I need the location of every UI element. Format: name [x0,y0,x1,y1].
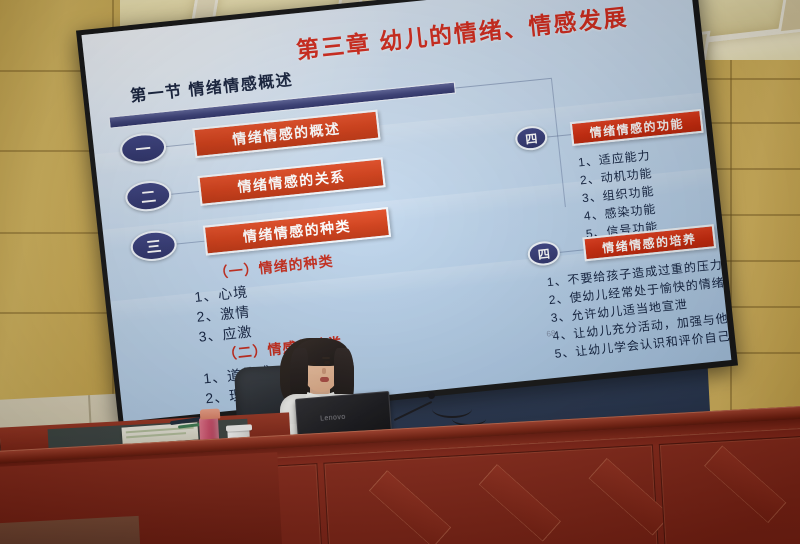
presenter-mouth [320,377,329,382]
connector-line [547,134,571,137]
powerpoint-slide: 第三章 幼儿的情绪、情感发展 第一节 情绪情感概述 一 情绪情感的概述 二 情绪… [81,0,731,422]
podium-diamond-inlay [704,445,786,523]
slide-marker-5: 四 [527,240,561,267]
connector-line [177,241,205,245]
podium-panel [323,444,659,544]
podium-panel [659,434,800,544]
slide-chapter-title: 第三章 幼儿的情绪、情感发展 [294,0,629,65]
slide-marker-2: 二 [124,179,173,213]
connector-line [560,249,584,252]
slide-marker-1: 一 [119,131,168,165]
slide-topic-bar-3: 情绪情感的种类 [203,207,391,256]
microphone-head [428,392,435,399]
presenter-eye-left [310,362,316,365]
presenter-eyebrow [322,357,330,359]
presenter-eye-right [324,361,330,364]
slide-topic-bar-functions: 情绪情感的功能 [570,109,704,146]
projection-screen: 第三章 幼儿的情绪、情感发展 第一节 情绪情感概述 一 情绪情感的概述 二 情绪… [76,0,738,428]
slide-marker-4: 四 [514,125,548,152]
slide-subhead-emotion-types: （一）情绪的种类 [213,251,335,283]
laptop-brand-label: Lenovo [320,414,346,423]
slide-leader-line-vertical [551,78,566,207]
slide-page-number: 68 [546,329,556,339]
lecture-hall-photo: 第三章 幼儿的情绪、情感发展 第一节 情绪情感概述 一 情绪情感的概述 二 情绪… [0,0,800,544]
podium-diamond-inlay [589,458,671,536]
podium-diamond-inlay [479,464,561,542]
podium-diamond-inlay [369,470,451,544]
slide-leader-line [455,78,551,89]
water-bottle-cap [200,408,220,419]
connector-line [171,191,199,195]
slide-marker-3: 三 [129,229,178,263]
slide-topic-bar-2: 情绪情感的关系 [197,157,385,206]
presenter-nose [322,368,326,374]
connector-line [166,143,194,147]
